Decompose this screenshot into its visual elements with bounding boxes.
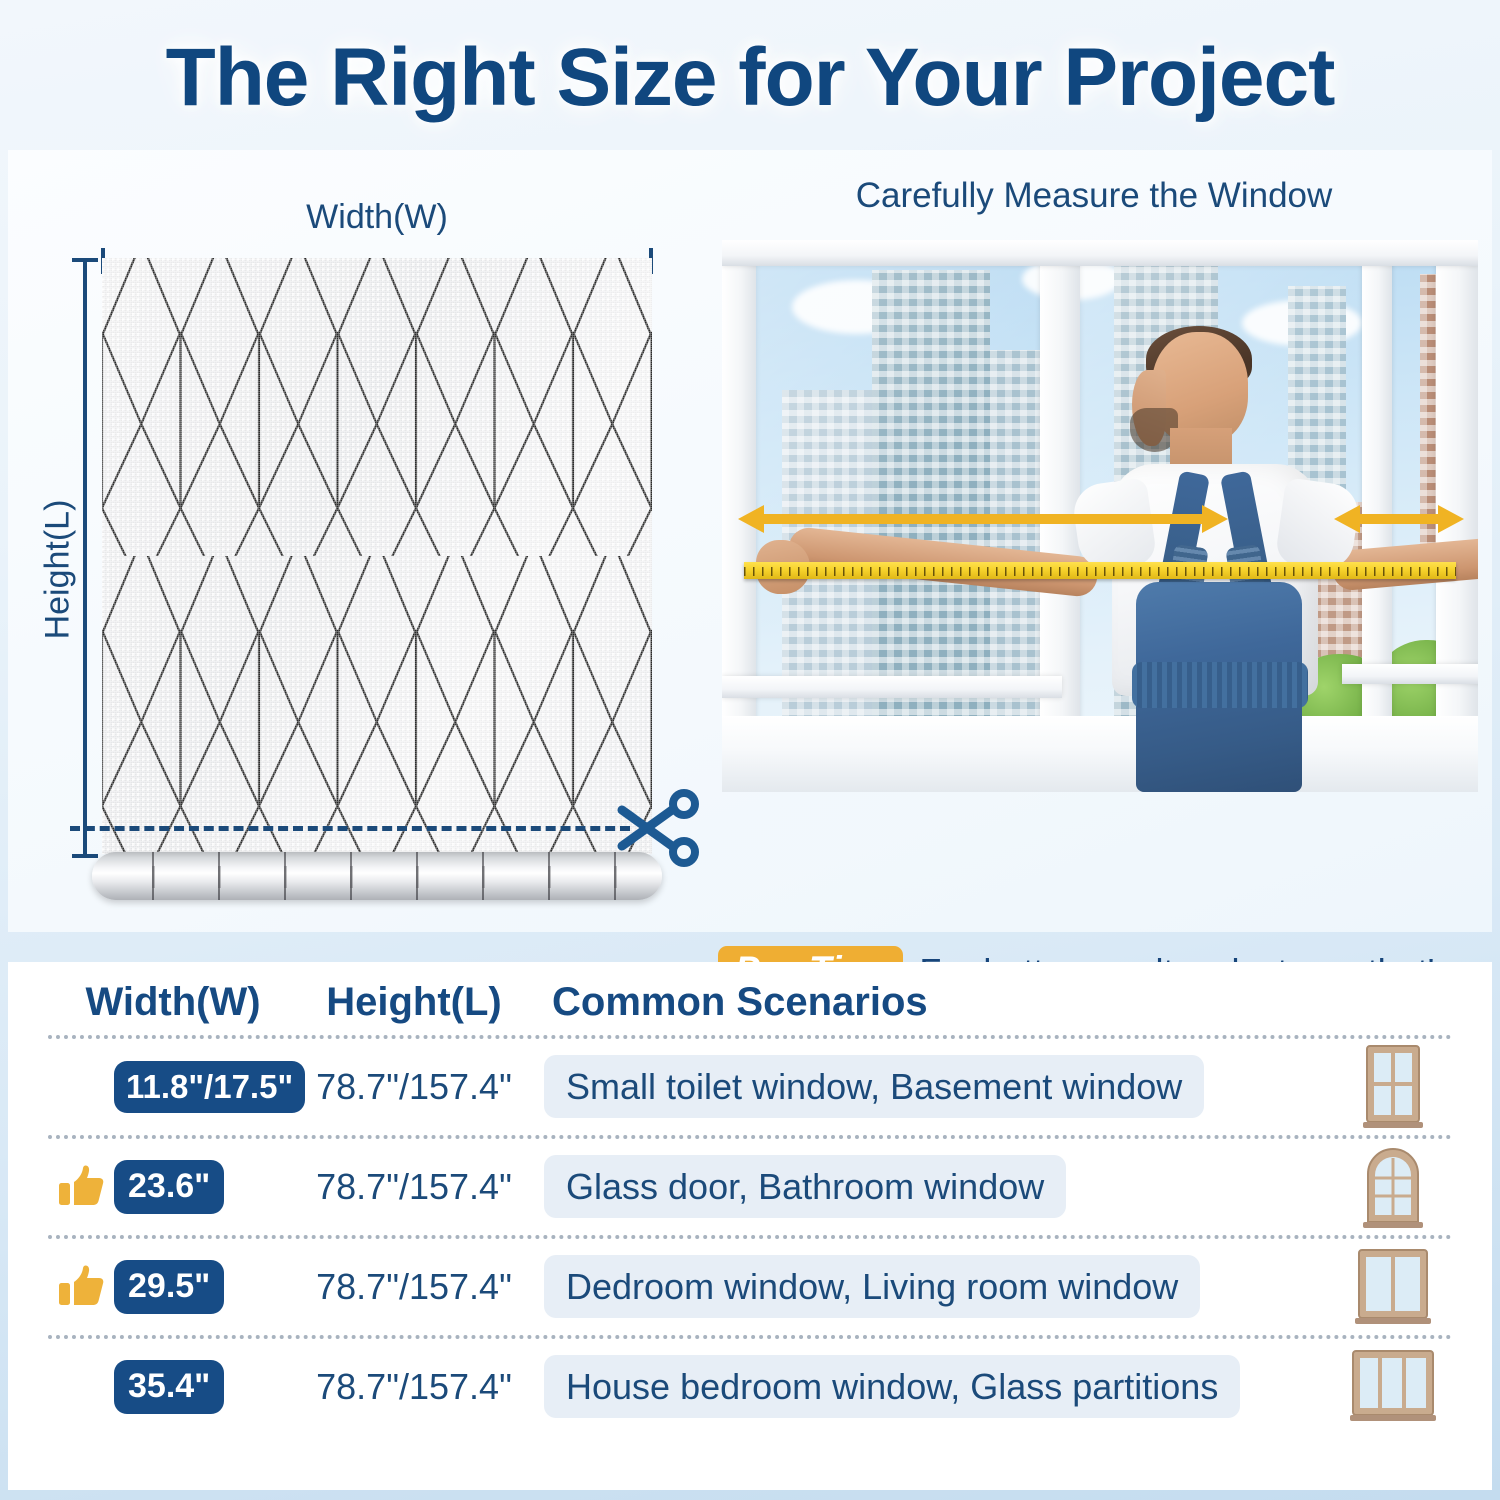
- overalls-waistband: [1132, 662, 1308, 708]
- width-cell: 11.8"/17.5": [114, 1061, 298, 1114]
- scenario-pill: House bedroom window, Glass partitions: [544, 1355, 1240, 1418]
- cut-line: [70, 826, 630, 831]
- window-icon-cell: [1334, 1247, 1452, 1327]
- window-frame-bottom-left: [722, 676, 1062, 698]
- arrow-left-icon: [738, 505, 764, 533]
- scenario-cell: Small toilet window, Basement window: [530, 1066, 1334, 1108]
- column-header-height: Height(L): [298, 980, 530, 1025]
- recommend-cell: [48, 1263, 114, 1311]
- window-frame-top: [722, 240, 1478, 266]
- height-cell: 78.7"/157.4": [298, 1066, 530, 1108]
- column-header-width: Width(W): [48, 980, 298, 1025]
- column-header-scenarios: Common Scenarios: [530, 980, 1452, 1025]
- window-icon-cell: [1334, 1144, 1452, 1230]
- row-divider: [48, 1035, 1452, 1039]
- thumbs-up-icon: [57, 1263, 105, 1311]
- width-cell: 29.5": [114, 1260, 298, 1314]
- width-cell: 35.4": [114, 1360, 298, 1414]
- height-dimension-arrow-icon: [70, 258, 100, 858]
- scenario-pill: Small toilet window, Basement window: [544, 1055, 1204, 1118]
- page-title-band: The Right Size for Your Project: [0, 22, 1500, 134]
- scenario-pill: Dedroom window, Living room window: [544, 1255, 1200, 1318]
- recommend-cell: [48, 1163, 114, 1211]
- row-divider: [48, 1135, 1452, 1139]
- height-cell: 78.7"/157.4": [298, 1266, 530, 1308]
- diagram-width-label: Width(W): [102, 198, 652, 237]
- width-measure-arrows: [738, 502, 1464, 536]
- width-badge: 35.4": [114, 1360, 224, 1414]
- arrow-right-icon: [1438, 505, 1464, 533]
- width-badge: 11.8"/17.5": [114, 1061, 305, 1114]
- table-row[interactable]: 35.4" 78.7"/157.4" House bedroom window,…: [48, 1339, 1452, 1435]
- window-tall-4pane-icon: [1361, 1044, 1425, 1130]
- window-triple-pane-icon: [1350, 1348, 1436, 1426]
- table-header-row: Width(W) Height(L) Common Scenarios: [48, 980, 1452, 1035]
- row-divider: [48, 1235, 1452, 1239]
- scenario-cell: Dedroom window, Living room window: [530, 1266, 1334, 1308]
- width-cell: 23.6": [114, 1160, 298, 1214]
- window-arched-icon: [1361, 1144, 1425, 1230]
- width-badge: 29.5": [114, 1260, 224, 1314]
- scenario-pill: Glass door, Bathroom window: [544, 1155, 1066, 1218]
- thumbs-up-icon: [57, 1163, 105, 1211]
- arrow-head-inner-left: [1334, 505, 1360, 533]
- tape-measure-icon: [744, 562, 1456, 579]
- size-table: Width(W) Height(L) Common Scenarios 11.8…: [48, 980, 1452, 1435]
- table-row[interactable]: 23.6" 78.7"/157.4" Glass door, Bathroom …: [48, 1139, 1452, 1235]
- row-divider: [48, 1335, 1452, 1339]
- film-dimension-diagram: Width(W) Height(L): [22, 170, 702, 930]
- measure-window-photo: [722, 240, 1478, 792]
- size-table-panel: Width(W) Height(L) Common Scenarios 11.8…: [8, 962, 1492, 1490]
- scenario-cell: House bedroom window, Glass partitions: [530, 1366, 1334, 1408]
- roll-pattern-secondary: [92, 866, 662, 888]
- height-cell: 78.7"/157.4": [298, 1366, 530, 1408]
- photo-heading: Carefully Measure the Window: [708, 176, 1480, 216]
- table-row[interactable]: 11.8"/17.5" 78.7"/157.4" Small toilet wi…: [48, 1039, 1452, 1135]
- table-row[interactable]: 29.5" 78.7"/157.4" Dedroom window, Livin…: [48, 1239, 1452, 1335]
- top-content-panel: Width(W) Height(L): [8, 150, 1492, 932]
- window-icon-cell: [1334, 1044, 1452, 1130]
- height-cell: 78.7"/157.4": [298, 1166, 530, 1208]
- window-icon-cell: [1334, 1348, 1452, 1426]
- window-double-casement-icon: [1355, 1247, 1431, 1327]
- film-roll-icon: [92, 852, 662, 900]
- film-texture: [102, 258, 652, 854]
- measure-photo-block: Carefully Measure the Window: [708, 162, 1480, 802]
- arrow-head-inner-right: [1202, 505, 1228, 533]
- privacy-film-sheet: [102, 258, 652, 854]
- scenario-cell: Glass door, Bathroom window: [530, 1166, 1334, 1208]
- width-badge: 23.6": [114, 1160, 224, 1214]
- page-title: The Right Size for Your Project: [166, 31, 1335, 125]
